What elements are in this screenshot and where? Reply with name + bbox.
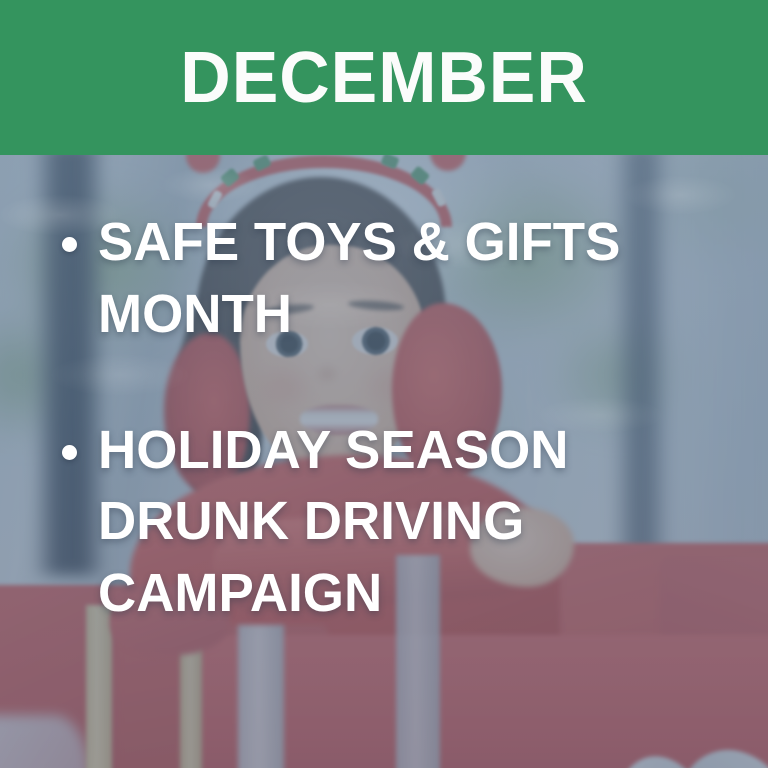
month-banner: DECEMBER (0, 0, 768, 155)
bullet-dot-icon (62, 237, 77, 252)
bullet-dot-icon (62, 445, 77, 460)
month-title: DECEMBER (180, 42, 587, 114)
observances-list: SAFE TOYS & GIFTS MONTH HOLIDAY SEASON D… (62, 207, 708, 630)
observance-label: HOLIDAY SEASON DRUNK DRIVING CAMPAIGN (98, 415, 647, 630)
observance-label: SAFE TOYS & GIFTS MONTH (98, 207, 647, 351)
observances-section: SAFE TOYS & GIFTS MONTH HOLIDAY SEASON D… (0, 155, 768, 768)
list-item: HOLIDAY SEASON DRUNK DRIVING CAMPAIGN (62, 415, 708, 630)
december-observance-poster: DECEMBER (0, 0, 768, 768)
list-item: SAFE TOYS & GIFTS MONTH (62, 207, 708, 351)
